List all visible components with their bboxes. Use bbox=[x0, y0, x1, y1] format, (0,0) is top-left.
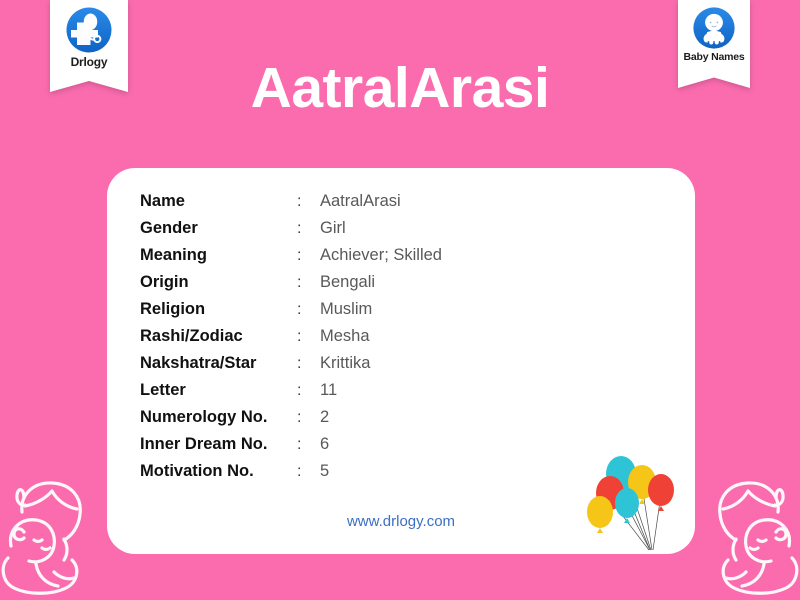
table-row: Origin : Bengali bbox=[140, 273, 442, 300]
table-row: Nakshatra/Star : Krittika bbox=[140, 354, 442, 381]
detail-separator: : bbox=[297, 274, 320, 292]
detail-value-name: AatralArasi bbox=[320, 192, 401, 211]
baby-avatar-icon bbox=[692, 6, 736, 50]
detail-label-religion: Religion bbox=[140, 300, 297, 319]
detail-value-nakshatra-star: Krittika bbox=[320, 354, 370, 373]
detail-value-numerology-no: 2 bbox=[320, 408, 329, 427]
table-row: Name : AatralArasi bbox=[140, 192, 442, 219]
mother-and-baby-icon bbox=[686, 460, 800, 600]
detail-separator: : bbox=[297, 301, 320, 319]
detail-separator: : bbox=[297, 436, 320, 454]
site-url[interactable]: www.drlogy.com bbox=[107, 513, 695, 530]
detail-separator: : bbox=[297, 382, 320, 400]
detail-value-letter: 11 bbox=[320, 381, 337, 400]
detail-label-gender: Gender bbox=[140, 219, 297, 238]
detail-value-gender: Girl bbox=[320, 219, 346, 238]
table-row: Numerology No. : 2 bbox=[140, 408, 442, 435]
table-row: Gender : Girl bbox=[140, 219, 442, 246]
detail-value-motivation-no: 5 bbox=[320, 462, 329, 481]
detail-label-origin: Origin bbox=[140, 273, 297, 292]
table-row: Rashi/Zodiac : Mesha bbox=[140, 327, 442, 354]
balloons-icon bbox=[587, 446, 687, 554]
detail-label-nakshatra-star: Nakshatra/Star bbox=[140, 354, 297, 373]
detail-separator: : bbox=[297, 409, 320, 427]
detail-label-numerology-no: Numerology No. bbox=[140, 408, 297, 427]
detail-label-letter: Letter bbox=[140, 381, 297, 400]
mother-and-baby-icon bbox=[0, 460, 114, 600]
detail-value-religion: Muslim bbox=[320, 300, 372, 319]
detail-label-rashi-zodiac: Rashi/Zodiac bbox=[140, 327, 297, 346]
drlogy-medical-cross-doctor-icon bbox=[65, 6, 113, 54]
table-row: Motivation No. : 5 bbox=[140, 462, 442, 489]
detail-separator: : bbox=[297, 220, 320, 238]
detail-label-name: Name bbox=[140, 192, 297, 211]
detail-separator: : bbox=[297, 463, 320, 481]
detail-label-motivation-no: Motivation No. bbox=[140, 462, 297, 481]
details-table: Name : AatralArasi Gender : Girl Meaning… bbox=[140, 192, 442, 489]
name-details-card: Name : AatralArasi Gender : Girl Meaning… bbox=[107, 168, 695, 554]
detail-separator: : bbox=[297, 193, 320, 211]
table-row: Meaning : Achiever; Skilled bbox=[140, 246, 442, 273]
detail-value-inner-dream-no: 6 bbox=[320, 435, 329, 454]
page-title: AatralArasi bbox=[0, 60, 800, 117]
table-row: Inner Dream No. : 6 bbox=[140, 435, 442, 462]
detail-label-meaning: Meaning bbox=[140, 246, 297, 265]
table-row: Religion : Muslim bbox=[140, 300, 442, 327]
table-row: Letter : 11 bbox=[140, 381, 442, 408]
detail-value-meaning: Achiever; Skilled bbox=[320, 246, 442, 265]
detail-separator: : bbox=[297, 328, 320, 346]
detail-value-rashi-zodiac: Mesha bbox=[320, 327, 370, 346]
detail-value-origin: Bengali bbox=[320, 273, 375, 292]
detail-label-inner-dream-no: Inner Dream No. bbox=[140, 435, 297, 454]
detail-separator: : bbox=[297, 247, 320, 265]
detail-separator: : bbox=[297, 355, 320, 373]
